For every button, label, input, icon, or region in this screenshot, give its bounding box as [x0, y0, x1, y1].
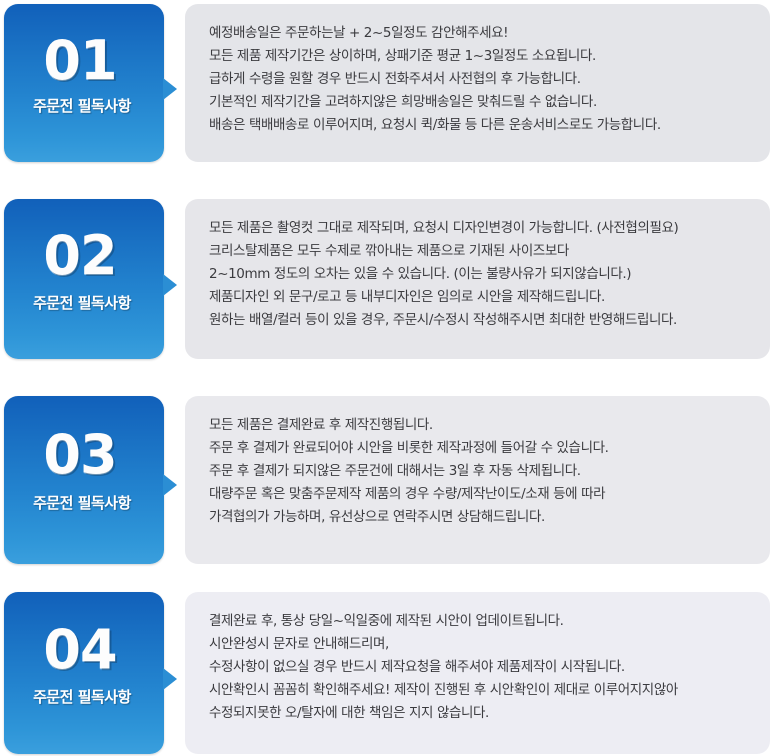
notice-line: 급하게 수령을 원할 경우 반드시 전화주셔서 사전협의 후 가능합니다.: [209, 68, 748, 91]
badge-inner: 01 주문전 필독사항: [4, 4, 164, 162]
badge-inner: 02 주문전 필독사항: [4, 199, 164, 359]
section-label: 주문전 필독사항: [4, 496, 160, 511]
notice-line: 시안완성시 문자로 안내해드리며,: [209, 633, 748, 656]
section-badge-01: 01 주문전 필독사항: [4, 4, 164, 162]
section-label: 주문전 필독사항: [4, 690, 160, 705]
section-label: 주문전 필독사항: [4, 99, 160, 114]
badge-arrow-icon: [163, 668, 177, 690]
notice-line: 대량주문 혹은 맞춤주문제작 제품의 경우 수량/제작난이도/소재 등에 따라: [209, 483, 748, 506]
notice-line: 시안확인시 꼼꼼히 확인해주세요! 제작이 진행된 후 시안확인이 제대로 이루…: [209, 679, 748, 702]
notice-line: 배송은 택배배송로 이루어지며, 요청시 퀵/화물 등 다른 운송서비스로도 가…: [209, 114, 748, 137]
notice-line: 주문 후 결제가 완료되어야 시안을 비롯한 제작과정에 들어갈 수 있습니다.: [209, 437, 748, 460]
section-badge-03: 03 주문전 필독사항: [4, 396, 164, 564]
notice-line: 모든 제품 제작기간은 상이하며, 상패기준 평균 1~3일정도 소요됩니다.: [209, 45, 748, 68]
badge-inner: 04 주문전 필독사항: [4, 592, 164, 754]
badge-inner: 03 주문전 필독사항: [4, 396, 164, 564]
notice-line: 기본적인 제작기간을 고려하지않은 희망배송일은 맞춰드릴 수 없습니다.: [209, 91, 748, 114]
section-number: 01: [4, 34, 156, 88]
notice-panel-02: 모든 제품은 촬영컷 그대로 제작되며, 요청시 디자인변경이 가능합니다. (…: [185, 199, 770, 359]
notice-board: 01 주문전 필독사항 예정배송일은 주문하는날 + 2~5일정도 감안해주세요…: [0, 0, 770, 756]
notice-panel-01: 예정배송일은 주문하는날 + 2~5일정도 감안해주세요! 모든 제품 제작기간…: [185, 4, 770, 162]
notice-line: 모든 제품은 결제완료 후 제작진행됩니다.: [209, 414, 748, 437]
section-number: 04: [4, 623, 156, 677]
notice-line: 수정되지못한 오/탈자에 대한 책임은 지지 않습니다.: [209, 702, 748, 725]
notice-line: 크리스탈제품은 모두 수제로 깎아내는 제품으로 기재된 사이즈보다: [209, 240, 748, 263]
notice-line: 2~10mm 정도의 오차는 있을 수 있습니다. (이는 불량사유가 되지않습…: [209, 263, 748, 286]
notice-panel-03: 모든 제품은 결제완료 후 제작진행됩니다. 주문 후 결제가 완료되어야 시안…: [185, 396, 770, 564]
notice-line: 제품디자인 외 문구/로고 등 내부디자인은 임의로 시안을 제작해드립니다.: [209, 286, 748, 309]
section-label: 주문전 필독사항: [4, 296, 160, 311]
badge-arrow-icon: [163, 274, 177, 296]
notice-line: 주문 후 결제가 되지않은 주문건에 대해서는 3일 후 자동 삭제됩니다.: [209, 460, 748, 483]
badge-arrow-icon: [163, 78, 177, 100]
section-number: 02: [4, 229, 156, 283]
notice-line: 원하는 배열/컬러 등이 있을 경우, 주문시/수정시 작성해주시면 최대한 반…: [209, 309, 748, 332]
notice-line: 수정사항이 없으실 경우 반드시 제작요청을 해주셔야 제품제작이 시작됩니다.: [209, 656, 748, 679]
section-number: 03: [4, 428, 156, 482]
notice-line: 예정배송일은 주문하는날 + 2~5일정도 감안해주세요!: [209, 22, 748, 45]
notice-line: 모든 제품은 촬영컷 그대로 제작되며, 요청시 디자인변경이 가능합니다. (…: [209, 217, 748, 240]
section-badge-04: 04 주문전 필독사항: [4, 592, 164, 754]
badge-arrow-icon: [163, 474, 177, 496]
notice-line: 결제완료 후, 통상 당일~익일중에 제작된 시안이 업데이트됩니다.: [209, 610, 748, 633]
section-badge-02: 02 주문전 필독사항: [4, 199, 164, 359]
notice-line: 가격협의가 가능하며, 유선상으로 연락주시면 상담해드립니다.: [209, 506, 748, 529]
notice-panel-04: 결제완료 후, 통상 당일~익일중에 제작된 시안이 업데이트됩니다. 시안완성…: [185, 592, 770, 754]
